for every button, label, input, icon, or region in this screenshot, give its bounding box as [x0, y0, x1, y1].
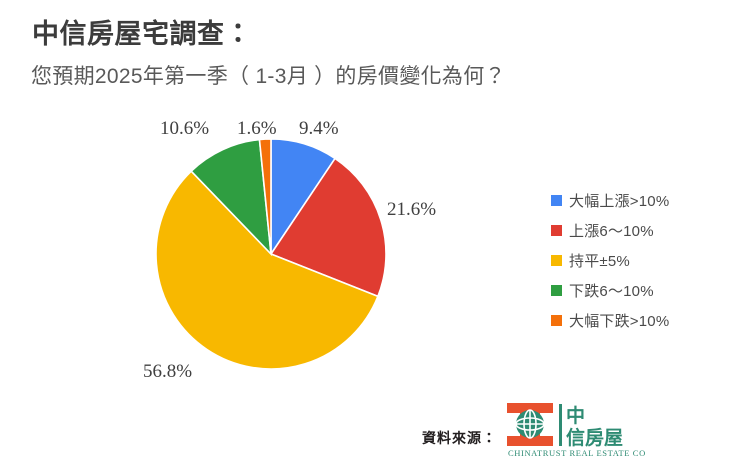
source-label: 資料來源： [422, 428, 497, 448]
pie-data-label-3: 10.6% [160, 118, 209, 140]
pie-data-label-4: 1.6% [237, 118, 277, 140]
chinatrust-logo: 中 信房屋 CHINATRUST REAL ESTATE CO. [505, 402, 645, 460]
legend-item-0[interactable]: 大幅上漲>10% [551, 185, 669, 215]
logo-english-text: CHINATRUST REAL ESTATE CO. [508, 448, 645, 458]
pie-data-label-2: 56.8% [143, 361, 192, 383]
page-subtitle: 您預期2025年第一季（ 1-3月 ）的房價變化為何？ [31, 60, 506, 90]
logo-chinese-bottom: 信房屋 [566, 426, 623, 449]
pie-svg [155, 138, 387, 370]
legend-label-1: 上漲6～10% [569, 220, 654, 241]
legend-item-3[interactable]: 下跌6～10% [551, 275, 669, 305]
legend-swatch-icon-4 [551, 315, 562, 326]
pie-data-label-1: 21.6% [387, 199, 436, 221]
legend-item-4[interactable]: 大幅下跌>10% [551, 305, 669, 335]
legend-swatch-icon-0 [551, 195, 562, 206]
logo-chinese-top: 中 [566, 404, 585, 427]
legend-item-1[interactable]: 上漲6～10% [551, 215, 669, 245]
logo-mark-icon [507, 403, 553, 446]
pie-graphic [155, 138, 387, 370]
chart-legend: 大幅上漲>10% 上漲6～10% 持平±5% 下跌6～10% 大幅下跌>10% [551, 185, 669, 335]
legend-item-2[interactable]: 持平±5% [551, 245, 669, 275]
legend-swatch-icon-3 [551, 285, 562, 296]
legend-label-0: 大幅上漲>10% [569, 190, 669, 211]
pie-chart: 9.4% 21.6% 56.8% 10.6% 1.6% 大幅上漲>10% 上漲6… [0, 100, 738, 400]
legend-label-2: 持平±5% [569, 250, 630, 271]
chinatrust-logo-svg: 中 信房屋 CHINATRUST REAL ESTATE CO. [505, 402, 645, 460]
legend-swatch-icon-1 [551, 225, 562, 236]
legend-label-3: 下跌6～10% [569, 280, 654, 301]
legend-label-4: 大幅下跌>10% [569, 310, 669, 331]
pie-data-label-0: 9.4% [299, 118, 339, 140]
slide-root: 中信房屋宅調查： 您預期2025年第一季（ 1-3月 ）的房價變化為何？ 9.4… [0, 0, 738, 468]
page-title: 中信房屋宅調查： [32, 12, 252, 51]
legend-swatch-icon-2 [551, 255, 562, 266]
source-attribution: 資料來源： 中 信房屋 [420, 400, 720, 462]
